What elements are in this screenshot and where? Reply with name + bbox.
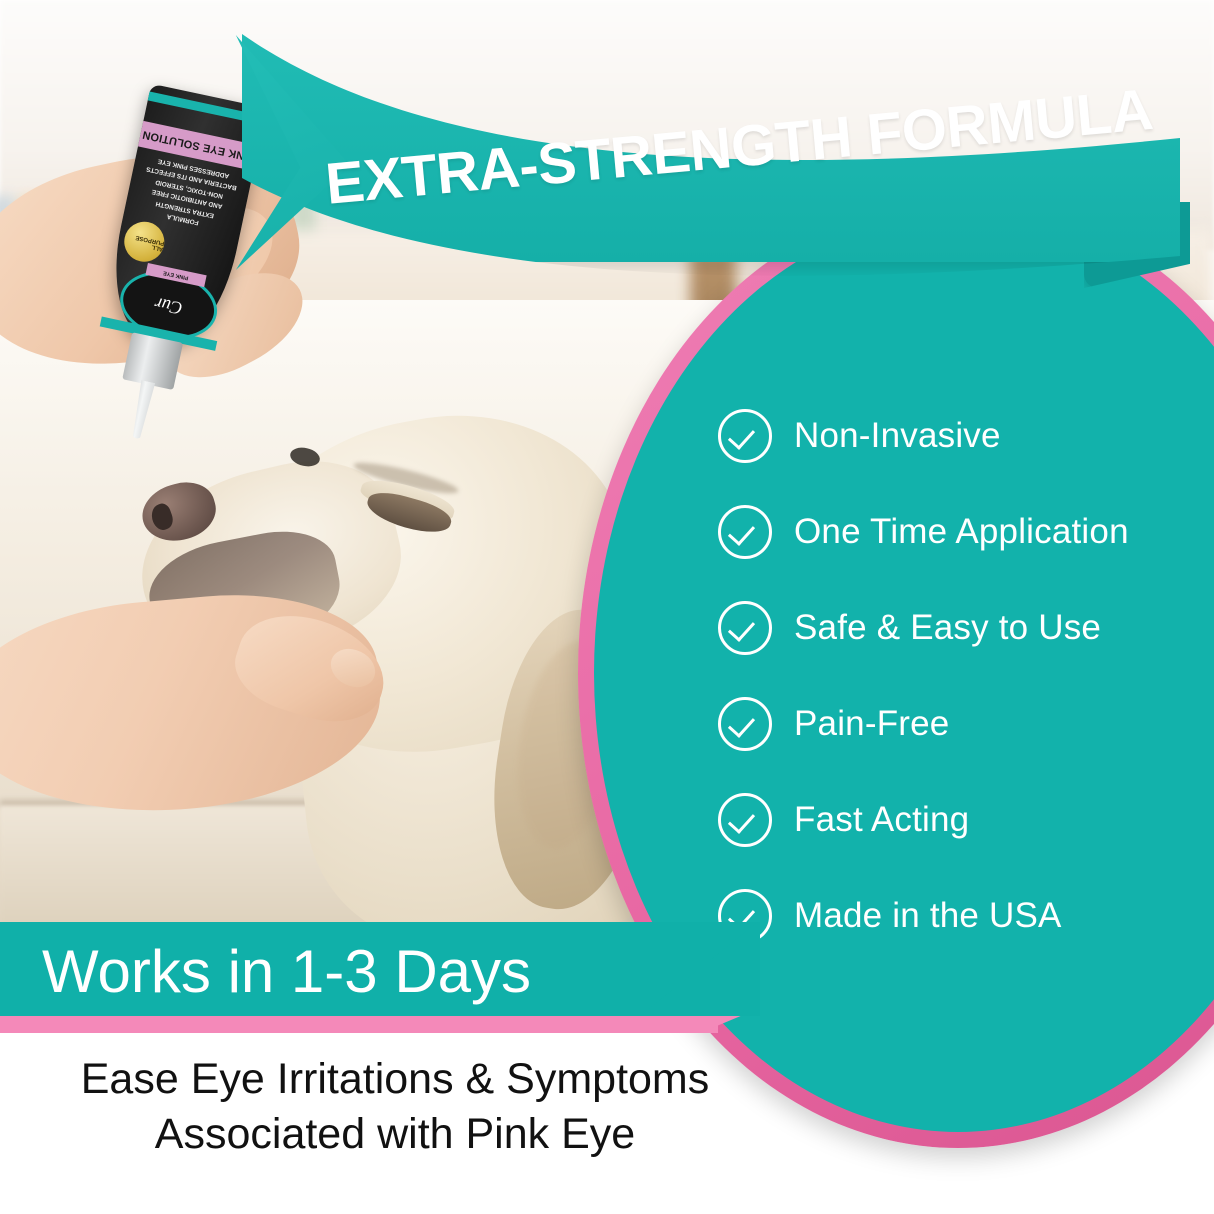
product-infographic: PINK EYE SOLUTION ADDRESSES PINK EYE BAC… bbox=[0, 0, 1214, 1214]
benefits-list: Non-Invasive One Time Application Safe &… bbox=[718, 388, 1214, 964]
list-item: Made in the USA bbox=[718, 868, 1214, 964]
list-item: One Time Application bbox=[718, 484, 1214, 580]
seal-label: ALL PURPOSE bbox=[123, 232, 165, 252]
brand-mark: Cur bbox=[153, 292, 185, 318]
benefit-label: Non-Invasive bbox=[794, 416, 1001, 456]
all-purpose-seal-icon: ALL PURPOSE bbox=[121, 218, 168, 265]
list-item: Non-Invasive bbox=[718, 388, 1214, 484]
works-headline: Works in 1-3 Days bbox=[42, 937, 531, 1006]
works-band-text-wrap: Works in 1-3 Days bbox=[42, 924, 531, 1018]
benefit-label: Fast Acting bbox=[794, 800, 969, 840]
bottle-collar bbox=[122, 332, 183, 390]
caption-block: Ease Eye Irritations & Symptoms Associat… bbox=[0, 1052, 790, 1162]
headline-ribbon: EXTRA-STRENGTH FORMULA bbox=[232, 26, 1190, 288]
benefit-label: Made in the USA bbox=[794, 896, 1062, 936]
benefit-label: Safe & Easy to Use bbox=[794, 608, 1101, 648]
caption-line-2: Associated with Pink Eye bbox=[0, 1107, 790, 1162]
list-item: Pain-Free bbox=[718, 676, 1214, 772]
check-circle-icon bbox=[718, 697, 772, 751]
benefit-label: Pain-Free bbox=[794, 704, 949, 744]
check-circle-icon bbox=[718, 505, 772, 559]
caption-line-1: Ease Eye Irritations & Symptoms bbox=[0, 1052, 790, 1107]
check-circle-icon bbox=[718, 793, 772, 847]
pink-stripe bbox=[0, 1016, 718, 1033]
check-circle-icon bbox=[718, 409, 772, 463]
brand-tagline: PINK EYE bbox=[163, 269, 189, 280]
benefit-label: One Time Application bbox=[794, 512, 1129, 552]
list-item: Fast Acting bbox=[718, 772, 1214, 868]
check-circle-icon bbox=[718, 601, 772, 655]
list-item: Safe & Easy to Use bbox=[718, 580, 1214, 676]
